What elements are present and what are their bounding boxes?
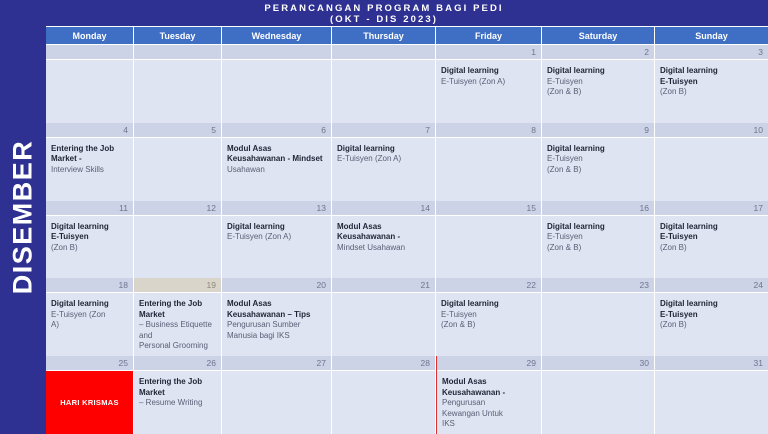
day-cell-3[interactable]: 3Digital learningE-Tuisyen(Zon B) <box>655 45 768 123</box>
date-number: 11 <box>46 201 133 216</box>
event-text: Digital learningE-Tuisyen(Zon & B) <box>436 293 541 356</box>
calendar-week-row: 4Entering the JobMarket -Interview Skill… <box>46 123 768 201</box>
event-text: Digital learningE-Tuisyen(Zon B) <box>655 216 768 279</box>
day-cell-19[interactable]: 19Entering the Job Market– Business Etiq… <box>134 278 222 356</box>
event-text: Modul AsasKeusahawanan -Mindset Usahawan <box>332 216 435 279</box>
day-cell-22[interactable]: 22Digital learningE-Tuisyen(Zon & B) <box>436 278 542 356</box>
event-line: Personal Grooming <box>139 341 216 352</box>
event-line: Digital learning <box>441 299 536 310</box>
date-number: 17 <box>655 201 768 216</box>
date-number: 25 <box>46 356 133 371</box>
day-header-friday: Friday <box>436 26 542 45</box>
day-cell-10[interactable]: 10 <box>655 123 768 201</box>
event-line: Keusahawanan - <box>442 388 536 399</box>
date-number: 16 <box>542 201 654 216</box>
date-number: 6 <box>222 123 331 138</box>
event-line: (Zon & B) <box>441 320 536 331</box>
day-header-monday: Monday <box>46 26 134 45</box>
day-cell-7[interactable]: 7Digital learningE-Tuisyen (Zon A) <box>332 123 436 201</box>
event-line: E-Tuisyen (Zon A) <box>337 154 430 165</box>
day-cell-18[interactable]: 18Digital learningE-Tuisyen (ZonA) <box>46 278 134 356</box>
event-text <box>655 138 768 201</box>
page-title: PERANCANGAN PROGRAM BAGI PEDI (OKT - DIS… <box>0 0 768 26</box>
day-header-sunday: Sunday <box>655 26 768 45</box>
event-line: Digital learning <box>660 66 763 77</box>
event-text: Entering the Job Market– Resume Writing <box>134 371 221 434</box>
calendar-weeks: 1Digital learningE-Tuisyen (Zon A)2Digit… <box>46 45 768 434</box>
event-line: Modul Asas <box>227 144 326 155</box>
date-number: 23 <box>542 278 654 293</box>
day-cell-29[interactable]: 29Modul AsasKeusahawanan -PengurusanKewa… <box>436 356 542 434</box>
event-text: Digital learningE-Tuisyen (Zon A) <box>436 60 541 123</box>
event-line: Digital learning <box>441 66 536 77</box>
event-line: Digital learning <box>227 222 326 233</box>
event-text: Digital learningE-Tuisyen(Zon B) <box>46 216 133 279</box>
event-line: (Zon B) <box>660 87 763 98</box>
event-text <box>134 138 221 201</box>
event-text <box>332 371 435 434</box>
event-line: (Zon B) <box>660 320 763 331</box>
date-number: 29 <box>437 356 541 371</box>
event-line: E-Tuisyen <box>51 232 128 243</box>
event-line: A) <box>51 320 128 331</box>
date-number: 7 <box>332 123 435 138</box>
event-text <box>222 371 331 434</box>
date-number: 24 <box>655 278 768 293</box>
event-line: E-Tuisyen <box>660 310 763 321</box>
day-cell-empty[interactable] <box>222 45 332 123</box>
calendar-page: PERANCANGAN PROGRAM BAGI PEDI (OKT - DIS… <box>0 0 768 434</box>
event-text: Modul AsasKeusahawanan – TipsPengurusan … <box>222 293 331 356</box>
event-text: Modul AsasKeusahawanan -PengurusanKewang… <box>437 371 541 434</box>
event-line: IKS <box>442 419 536 430</box>
event-text: Digital learningE-Tuisyen (Zon A) <box>332 138 435 201</box>
event-line: E-Tuisyen <box>660 77 763 88</box>
event-text: Digital learningE-Tuisyen(Zon & B) <box>542 216 654 279</box>
date-number <box>332 45 435 60</box>
event-text <box>46 60 133 123</box>
date-number: 20 <box>222 278 331 293</box>
calendar-week-row: 11Digital learningE-Tuisyen(Zon B)1213Di… <box>46 201 768 279</box>
date-number <box>46 45 133 60</box>
day-cell-30[interactable]: 30 <box>542 356 655 434</box>
event-text: Digital learningE-Tuisyen (Zon A) <box>222 216 331 279</box>
event-text: Digital learningE-Tuisyen(Zon B) <box>655 60 768 123</box>
event-text: Digital learningE-Tuisyen(Zon & B) <box>542 60 654 123</box>
event-line: Keusahawanan – Tips <box>227 310 326 321</box>
day-cell-5[interactable]: 5 <box>134 123 222 201</box>
date-number: 18 <box>46 278 133 293</box>
event-line: Digital learning <box>337 144 430 155</box>
event-line: Mindset Usahawan <box>337 243 430 254</box>
event-text <box>436 216 541 279</box>
date-number: 2 <box>542 45 654 60</box>
calendar-grid: MondayTuesdayWednesdayThursdayFridaySatu… <box>46 26 768 434</box>
day-cell-27[interactable]: 27 <box>222 356 332 434</box>
month-sidebar: DISEMBER <box>0 0 46 434</box>
date-number: 12 <box>134 201 221 216</box>
holiday-badge: HARI KRISMAS <box>46 371 133 434</box>
day-cell-12[interactable]: 12 <box>134 201 222 279</box>
date-number <box>134 45 221 60</box>
event-line: Interview Skills <box>51 165 128 176</box>
date-number: 8 <box>436 123 541 138</box>
event-text <box>134 216 221 279</box>
event-line: E-Tuisyen <box>547 232 649 243</box>
event-line: (Zon & B) <box>547 165 649 176</box>
day-header-row: MondayTuesdayWednesdayThursdayFridaySatu… <box>46 26 768 45</box>
event-line: Entering the Job Market <box>139 299 216 320</box>
event-line: Keusahawanan - Mindset <box>227 154 326 165</box>
date-number: 14 <box>332 201 435 216</box>
date-number: 5 <box>134 123 221 138</box>
day-cell-31[interactable]: 31 <box>655 356 768 434</box>
calendar-week-row: 25HARI KRISMAS26Entering the Job Market–… <box>46 356 768 434</box>
event-line: Manusia bagi IKS <box>227 331 326 342</box>
date-number: 30 <box>542 356 654 371</box>
day-cell-25[interactable]: 25HARI KRISMAS <box>46 356 134 434</box>
event-line: E-Tuisyen (Zon <box>51 310 128 321</box>
day-cell-empty[interactable] <box>46 45 134 123</box>
event-line: – Business Etiquette and <box>139 320 216 341</box>
date-number: 21 <box>332 278 435 293</box>
event-text <box>542 293 654 356</box>
event-line: Digital learning <box>547 144 649 155</box>
event-text <box>222 60 331 123</box>
event-text: Entering the Job Market– Business Etique… <box>134 293 221 356</box>
event-line: (Zon B) <box>660 243 763 254</box>
day-cell-2[interactable]: 2Digital learningE-Tuisyen(Zon & B) <box>542 45 655 123</box>
date-number: 10 <box>655 123 768 138</box>
date-number: 31 <box>655 356 768 371</box>
day-cell-13[interactable]: 13Digital learningE-Tuisyen (Zon A) <box>222 201 332 279</box>
date-number: 26 <box>134 356 221 371</box>
day-cell-14[interactable]: 14Modul AsasKeusahawanan -Mindset Usahaw… <box>332 201 436 279</box>
date-number: 27 <box>222 356 331 371</box>
event-line: Modul Asas <box>337 222 430 233</box>
event-line: Market - <box>51 154 128 165</box>
day-cell-8[interactable]: 8 <box>436 123 542 201</box>
day-cell-20[interactable]: 20Modul AsasKeusahawanan – TipsPengurusa… <box>222 278 332 356</box>
calendar-week-row: 1Digital learningE-Tuisyen (Zon A)2Digit… <box>46 45 768 123</box>
date-number: 9 <box>542 123 654 138</box>
date-number: 19 <box>134 278 221 293</box>
event-text: Digital learningE-Tuisyen (ZonA) <box>46 293 133 356</box>
event-line: Keusahawanan - <box>337 232 430 243</box>
event-text: Modul AsasKeusahawanan - MindsetUsahawan <box>222 138 331 201</box>
date-number: 3 <box>655 45 768 60</box>
day-cell-15[interactable]: 15 <box>436 201 542 279</box>
event-line: Modul Asas <box>227 299 326 310</box>
day-header-thursday: Thursday <box>332 26 436 45</box>
event-text: Digital learningE-Tuisyen(Zon B) <box>655 293 768 356</box>
event-line: Modul Asas <box>442 377 536 388</box>
event-line: Digital learning <box>51 299 128 310</box>
page-title-line1: PERANCANGAN PROGRAM BAGI PEDI <box>0 3 768 14</box>
event-text <box>332 60 435 123</box>
day-header-tuesday: Tuesday <box>134 26 222 45</box>
day-cell-23[interactable]: 23 <box>542 278 655 356</box>
day-cell-21[interactable]: 21 <box>332 278 436 356</box>
event-line: (Zon & B) <box>547 243 649 254</box>
day-cell-26[interactable]: 26Entering the Job Market– Resume Writin… <box>134 356 222 434</box>
event-text <box>134 60 221 123</box>
calendar-week-row: 18Digital learningE-Tuisyen (ZonA)19Ente… <box>46 278 768 356</box>
event-text <box>542 371 654 434</box>
date-number: 13 <box>222 201 331 216</box>
event-text: Digital learningE-Tuisyen(Zon & B) <box>542 138 654 201</box>
event-text: Entering the JobMarket -Interview Skills <box>46 138 133 201</box>
day-cell-4[interactable]: 4Entering the JobMarket -Interview Skill… <box>46 123 134 201</box>
event-text <box>436 138 541 201</box>
date-number: 22 <box>436 278 541 293</box>
event-line: – Resume Writing <box>139 398 216 409</box>
day-cell-1[interactable]: 1Digital learningE-Tuisyen (Zon A) <box>436 45 542 123</box>
date-number: 4 <box>46 123 133 138</box>
day-cell-16[interactable]: 16Digital learningE-Tuisyen(Zon & B) <box>542 201 655 279</box>
event-text <box>655 371 768 434</box>
date-number: 1 <box>436 45 541 60</box>
day-cell-empty[interactable] <box>332 45 436 123</box>
event-line: Pengurusan <box>442 398 536 409</box>
event-line: Entering the Job Market <box>139 377 216 398</box>
event-text <box>332 293 435 356</box>
day-cell-6[interactable]: 6Modul AsasKeusahawanan - MindsetUsahawa… <box>222 123 332 201</box>
event-line: Usahawan <box>227 165 326 176</box>
day-cell-17[interactable]: 17Digital learningE-Tuisyen(Zon B) <box>655 201 768 279</box>
event-line: Kewangan Untuk <box>442 409 536 420</box>
event-line: Digital learning <box>547 66 649 77</box>
day-cell-11[interactable]: 11Digital learningE-Tuisyen(Zon B) <box>46 201 134 279</box>
event-line: E-Tuisyen (Zon A) <box>441 77 536 88</box>
event-line: (Zon & B) <box>547 87 649 98</box>
day-header-wednesday: Wednesday <box>222 26 332 45</box>
event-line: Entering the Job <box>51 144 128 155</box>
event-line: Pengurusan Sumber <box>227 320 326 331</box>
day-cell-9[interactable]: 9Digital learningE-Tuisyen(Zon & B) <box>542 123 655 201</box>
page-title-subtitle: (OKT - DIS 2023) <box>0 14 768 25</box>
event-line: Digital learning <box>660 299 763 310</box>
event-line: (Zon B) <box>51 243 128 254</box>
event-line: E-Tuisyen <box>547 77 649 88</box>
event-line: E-Tuisyen <box>660 232 763 243</box>
day-cell-empty[interactable] <box>134 45 222 123</box>
day-header-saturday: Saturday <box>542 26 655 45</box>
day-cell-28[interactable]: 28 <box>332 356 436 434</box>
date-number <box>222 45 331 60</box>
event-line: Digital learning <box>51 222 128 233</box>
date-number: 15 <box>436 201 541 216</box>
month-label: DISEMBER <box>8 140 39 295</box>
event-line: Digital learning <box>660 222 763 233</box>
event-line: Digital learning <box>547 222 649 233</box>
event-line: E-Tuisyen (Zon A) <box>227 232 326 243</box>
date-number: 28 <box>332 356 435 371</box>
day-cell-24[interactable]: 24Digital learningE-Tuisyen(Zon B) <box>655 278 768 356</box>
event-line: E-Tuisyen <box>547 154 649 165</box>
event-line: E-Tuisyen <box>441 310 536 321</box>
